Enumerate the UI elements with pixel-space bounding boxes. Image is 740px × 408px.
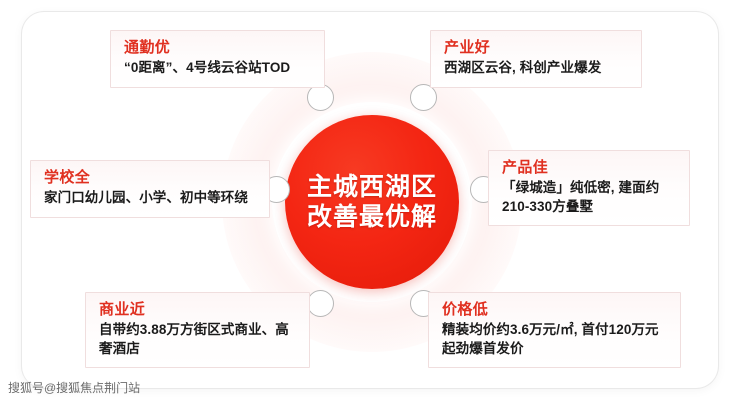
card-school: 学校全 家门口幼儿园、小学、初中等环绕	[30, 160, 270, 218]
center-title-line-1: 主城西湖区	[307, 172, 437, 203]
card-commute-body: “0距离”、4号线云谷站TOD	[124, 59, 313, 78]
card-school-title: 学校全	[44, 168, 258, 187]
watermark-text: 搜狐号@搜狐焦点荆门站	[8, 379, 140, 396]
card-commute: 通勤优 “0距离”、4号线云谷站TOD	[110, 30, 325, 88]
card-product-title: 产品佳	[502, 158, 678, 177]
card-commute-title: 通勤优	[124, 38, 313, 57]
card-price-body: 精装均价约3.6万元/㎡, 首付120万元起劲爆首发价	[442, 321, 669, 358]
card-business-title: 商业近	[99, 300, 298, 319]
center-title-line-2: 改善最优解	[307, 202, 437, 233]
card-price: 价格低 精装均价约3.6万元/㎡, 首付120万元起劲爆首发价	[428, 292, 681, 368]
watermark: 搜狐号@搜狐焦点荆门站	[8, 379, 140, 396]
card-industry: 产业好 西湖区云谷, 科创产业爆发	[430, 30, 642, 88]
card-business-body: 自带约3.88万方街区式商业、高奢酒店	[99, 321, 298, 358]
connector-business-icon	[307, 290, 334, 317]
card-product-body: 「绿城造」纯低密, 建面约210-330方叠墅	[502, 179, 678, 216]
card-product: 产品佳 「绿城造」纯低密, 建面约210-330方叠墅	[488, 150, 690, 226]
card-price-title: 价格低	[442, 300, 669, 319]
card-school-body: 家门口幼儿园、小学、初中等环绕	[44, 189, 258, 208]
card-business: 商业近 自带约3.88万方街区式商业、高奢酒店	[85, 292, 310, 368]
card-industry-body: 西湖区云谷, 科创产业爆发	[444, 59, 630, 78]
card-industry-title: 产业好	[444, 38, 630, 57]
infographic-stage: 主城西湖区 改善最优解 通勤优 “0距离”、4号线云谷站TOD 产业好 西湖区云…	[0, 0, 740, 408]
center-circle: 主城西湖区 改善最优解	[285, 115, 459, 289]
connector-industry-icon	[410, 84, 437, 111]
connector-commute-icon	[307, 84, 334, 111]
